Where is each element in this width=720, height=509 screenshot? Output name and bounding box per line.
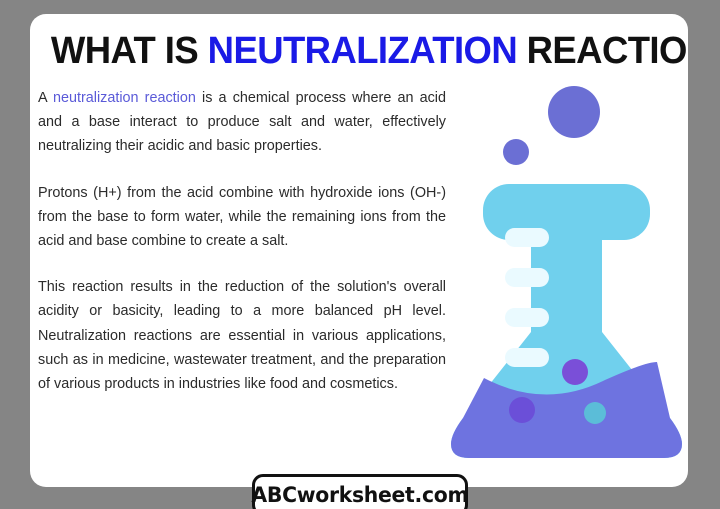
paragraph-applications: This reaction results in the reduction o… [38,275,446,396]
conical-flask-icon [445,80,688,460]
content-card: WHAT IS NEUTRALIZATION REACTION A neutra… [30,14,688,487]
paragraph-definition: A neutralization reaction is a chemical … [38,86,446,159]
chemistry-flask-illustration [445,80,688,460]
bubble-large-icon [548,86,600,138]
article-body: A neutralization reaction is a chemical … [38,86,446,396]
neutralization-reaction-link[interactable]: neutralization reaction [53,90,196,106]
paragraph-1-lead: A [38,90,53,106]
inner-bubble-purple-lower-icon [509,397,535,423]
watermark-label: ABCworksheet.com [251,483,468,507]
page-title-prefix: WHAT IS [51,30,208,72]
paragraph-mechanism: Protons (H+) from the acid combine with … [38,181,446,254]
page-title-highlight: NEUTRALIZATION [208,30,517,72]
page-title: WHAT IS NEUTRALIZATION REACTION [51,30,667,73]
watermark-badge: ABCworksheet.com [252,474,468,509]
bubble-small-icon [503,139,529,165]
inner-bubble-cyan-icon [584,402,606,424]
inner-bubble-purple-upper-icon [562,359,588,385]
page-title-suffix: REACTION [517,30,688,72]
